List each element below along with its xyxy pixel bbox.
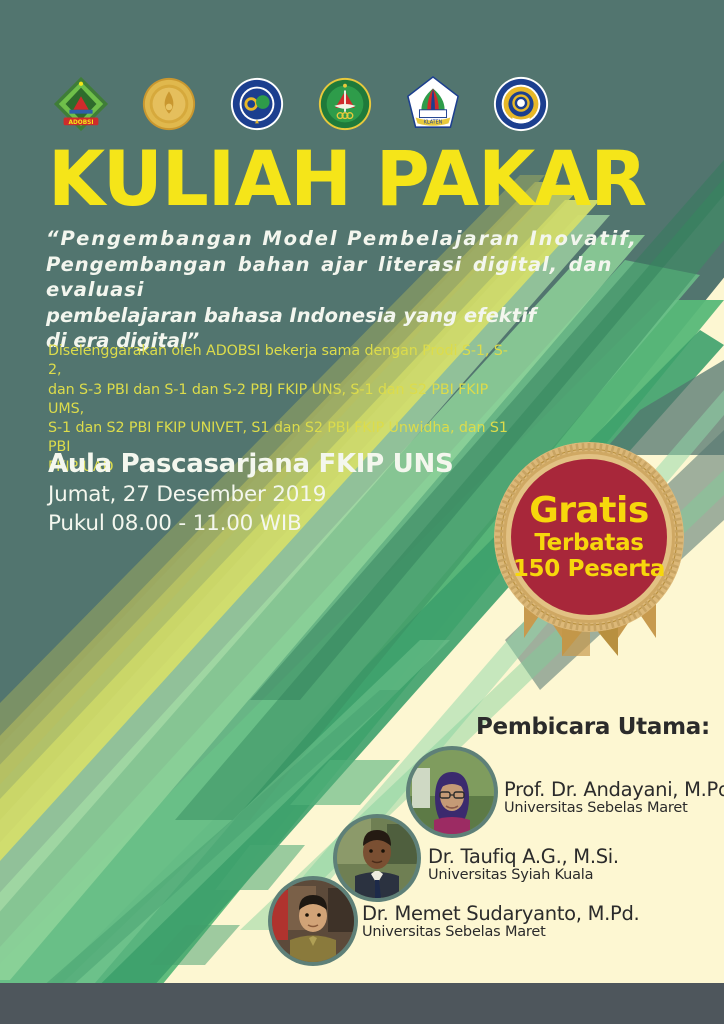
quote-line-2: Pengembangan bahan ajar literasi digital…: [46, 252, 646, 303]
widya-dharma-logo: KLATEN: [404, 75, 462, 133]
speaker-1-text: Prof. Dr. Andayani, M.Pd. Universitas Se…: [504, 779, 724, 817]
event-theme-quote: “Pengembangan Model Pembelajaran Inovati…: [46, 226, 646, 354]
footer-bar: [0, 983, 724, 1024]
badge-inner: Gratis Terbatas 150 Peserta: [511, 459, 667, 615]
speaker-3-affiliation: Universitas Sebelas Maret: [362, 924, 639, 941]
speaker-2-affiliation: Universitas Syiah Kuala: [428, 867, 619, 884]
speaker-photo-andayani: [410, 750, 494, 834]
svg-text:KLATEN: KLATEN: [424, 119, 443, 125]
badge-line-3: 150 Peserta: [513, 556, 665, 583]
gold-seal-logo: [140, 75, 198, 133]
logo-row: ADOBSI: [52, 66, 552, 142]
organizer-line-1: Diselenggarakan oleh ADOBSI bekerja sama…: [48, 342, 518, 381]
speakers-heading: Pembicara Utama:: [476, 714, 710, 740]
speaker-2-text: Dr. Taufiq A.G., M.Si. Universitas Syiah…: [428, 846, 619, 884]
event-venue: Aula Pascasarjana FKIP UNS: [48, 448, 453, 480]
speaker-photo-memet: [272, 880, 354, 962]
speaker-1-name: Prof. Dr. Andayani, M.Pd.: [504, 779, 724, 800]
quote-line-1: “Pengembangan Model Pembelajaran Inovati…: [46, 226, 646, 252]
page-title: KULIAH PAKAR: [48, 141, 646, 217]
badge-line-1: Gratis: [529, 492, 649, 530]
event-time: Pukul 08.00 - 11.00 WIB: [48, 509, 453, 538]
ahmad-dahlan-logo: [492, 75, 550, 133]
ums-logo: [228, 75, 286, 133]
poster-root: ADOBSI: [0, 0, 724, 1024]
green-university-logo: [316, 75, 374, 133]
speaker-3-text: Dr. Memet Sudaryanto, M.Pd. Universitas …: [362, 903, 639, 941]
speaker-2-name: Dr. Taufiq A.G., M.Si.: [428, 846, 619, 867]
adobsi-logo: ADOBSI: [52, 75, 110, 133]
speaker-3-name: Dr. Memet Sudaryanto, M.Pd.: [362, 903, 639, 924]
organizer-line-2: dan S-3 PBI dan S-1 dan S-2 PBJ FKIP UNS…: [48, 381, 518, 420]
gratis-badge: Gratis Terbatas 150 Peserta: [494, 442, 684, 656]
event-date: Jumat, 27 Desember 2019: [48, 480, 453, 509]
event-details: Aula Pascasarjana FKIP UNS Jumat, 27 Des…: [48, 448, 453, 538]
quote-line-3: pembelajaran bahasa Indonesia yang efekt…: [46, 303, 646, 329]
svg-text:ADOBSI: ADOBSI: [69, 120, 94, 126]
speaker-1-affiliation: Universitas Sebelas Maret: [504, 800, 724, 817]
badge-line-2: Terbatas: [534, 530, 643, 556]
